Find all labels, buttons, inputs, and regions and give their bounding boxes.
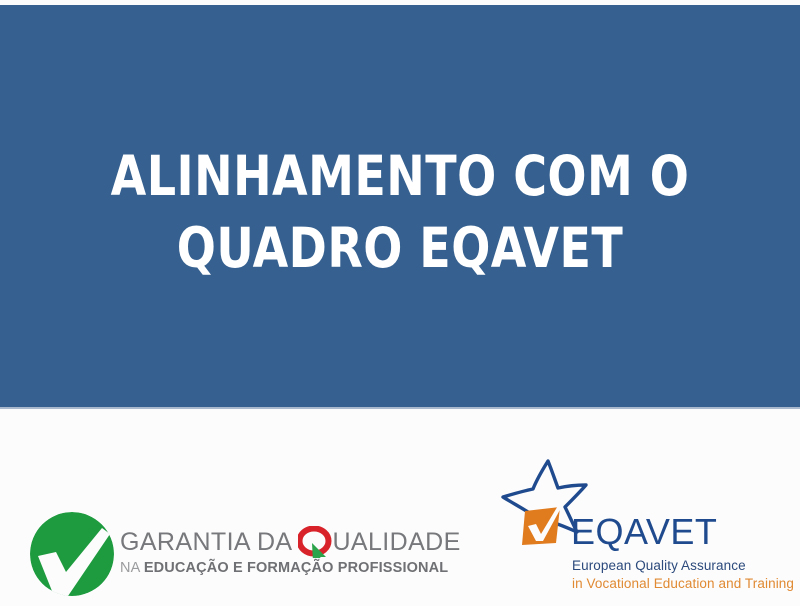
gq-line2-light: NA [120, 560, 144, 576]
gq-line-2: NA EDUCAÇÃO E FORMAÇÃO PROFISSIONAL [120, 558, 440, 578]
green-check-circle-icon [30, 512, 114, 596]
page-title: ALINHAMENTO COM O QUADRO EQAVET [0, 140, 800, 284]
quality-guarantee-logo: GARANTIA DA UALIDADE NA EDUCAÇÃO E FORMA… [30, 512, 430, 596]
red-q-cursor-icon [298, 528, 332, 556]
eqavet-tagline-line-2: in Vocational Education and Training [572, 575, 800, 593]
eqavet-wordmark: EQAVET [571, 513, 717, 551]
slide-canvas: ALINHAMENTO COM O QUADRO EQAVET GARANTIA… [0, 0, 800, 606]
title-line-1: ALINHAMENTO COM O [28, 140, 772, 212]
eqavet-tagline-line-1: European Quality Assurance [572, 557, 800, 575]
gq-line2-bold: EDUCAÇÃO E FORMAÇÃO PROFISSIONAL [144, 560, 448, 576]
gq-line1-suffix: UALIDADE [332, 528, 460, 556]
eqavet-logo: EQAVET European Quality Assurance in Voc… [498, 455, 798, 600]
title-line-2: QUADRO EQAVET [28, 212, 772, 284]
eqavet-tagline: European Quality Assurance in Vocational… [572, 557, 800, 593]
gq-line-1: GARANTIA DA UALIDADE [120, 528, 440, 556]
quality-guarantee-wordmark: GARANTIA DA UALIDADE NA EDUCAÇÃO E FORMA… [120, 528, 440, 578]
gq-line1-prefix: GARANTIA DA [120, 528, 298, 556]
